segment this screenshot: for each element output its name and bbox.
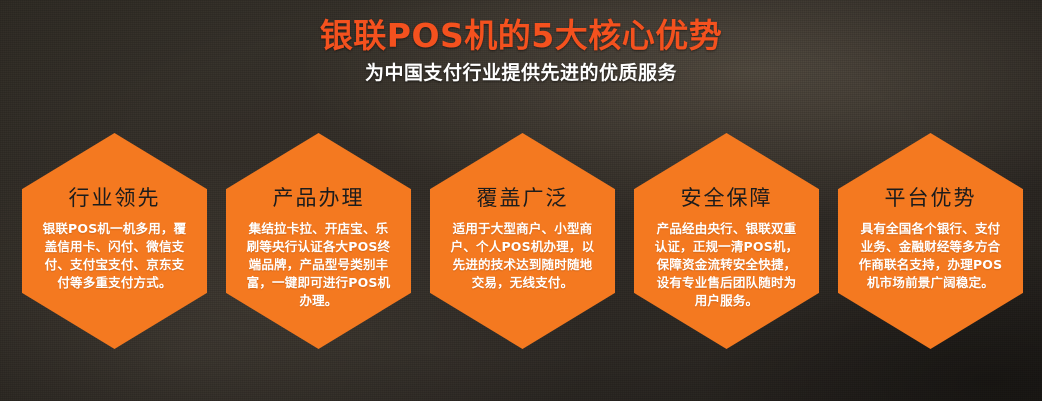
feature-title: 覆盖广泛 [477,185,569,211]
feature-title: 产品办理 [273,185,365,211]
feature-card-4[interactable]: 安全保障 产品经由央行、银联双重认证，正规一清POS机，保障资金流转安全快捷，设… [634,133,819,349]
feature-body: 集结拉卡拉、开店宝、乐刷等央行认证各大POS终端品牌，产品型号类别丰富，一键即可… [245,220,393,310]
banner-header: 银联POS机的5大核心优势 为中国支付行业提供先进的优质服务 [0,0,1042,86]
feature-title: 行业领先 [69,185,161,211]
feature-card-3[interactable]: 覆盖广泛 适用于大型商户、小型商户、个人POS机办理，以先进的技术达到随时随地交… [430,133,615,349]
promo-banner: 银联POS机的5大核心优势 为中国支付行业提供先进的优质服务 行业领先 银联PO… [0,0,1042,401]
feature-card-2[interactable]: 产品办理 集结拉卡拉、开店宝、乐刷等央行认证各大POS终端品牌，产品型号类别丰富… [226,133,411,349]
feature-body: 适用于大型商户、小型商户、个人POS机办理，以先进的技术达到随时随地交易，无线支… [449,220,597,292]
feature-title: 安全保障 [681,185,773,211]
feature-card-1[interactable]: 行业领先 银联POS机一机多用，覆盖信用卡、闪付、微信支付、支付宝支付、京东支付… [22,133,207,349]
feature-hexagon-row: 行业领先 银联POS机一机多用，覆盖信用卡、闪付、微信支付、支付宝支付、京东支付… [22,133,1020,349]
feature-card-5[interactable]: 平台优势 具有全国各个银行、支付业务、金融财经等多方合作商联名支持，办理POS机… [838,133,1023,349]
feature-body: 产品经由央行、银联双重认证，正规一清POS机，保障资金流转安全快捷，设有专业售后… [653,220,801,310]
feature-body: 银联POS机一机多用，覆盖信用卡、闪付、微信支付、支付宝支付、京东支付等多重支付… [41,220,189,292]
page-subtitle: 为中国支付行业提供先进的优质服务 [0,60,1042,86]
feature-body: 具有全国各个银行、支付业务、金融财经等多方合作商联名支持，办理POS机市场前景广… [857,220,1005,292]
feature-title: 平台优势 [885,185,977,211]
page-title: 银联POS机的5大核心优势 [0,16,1042,56]
